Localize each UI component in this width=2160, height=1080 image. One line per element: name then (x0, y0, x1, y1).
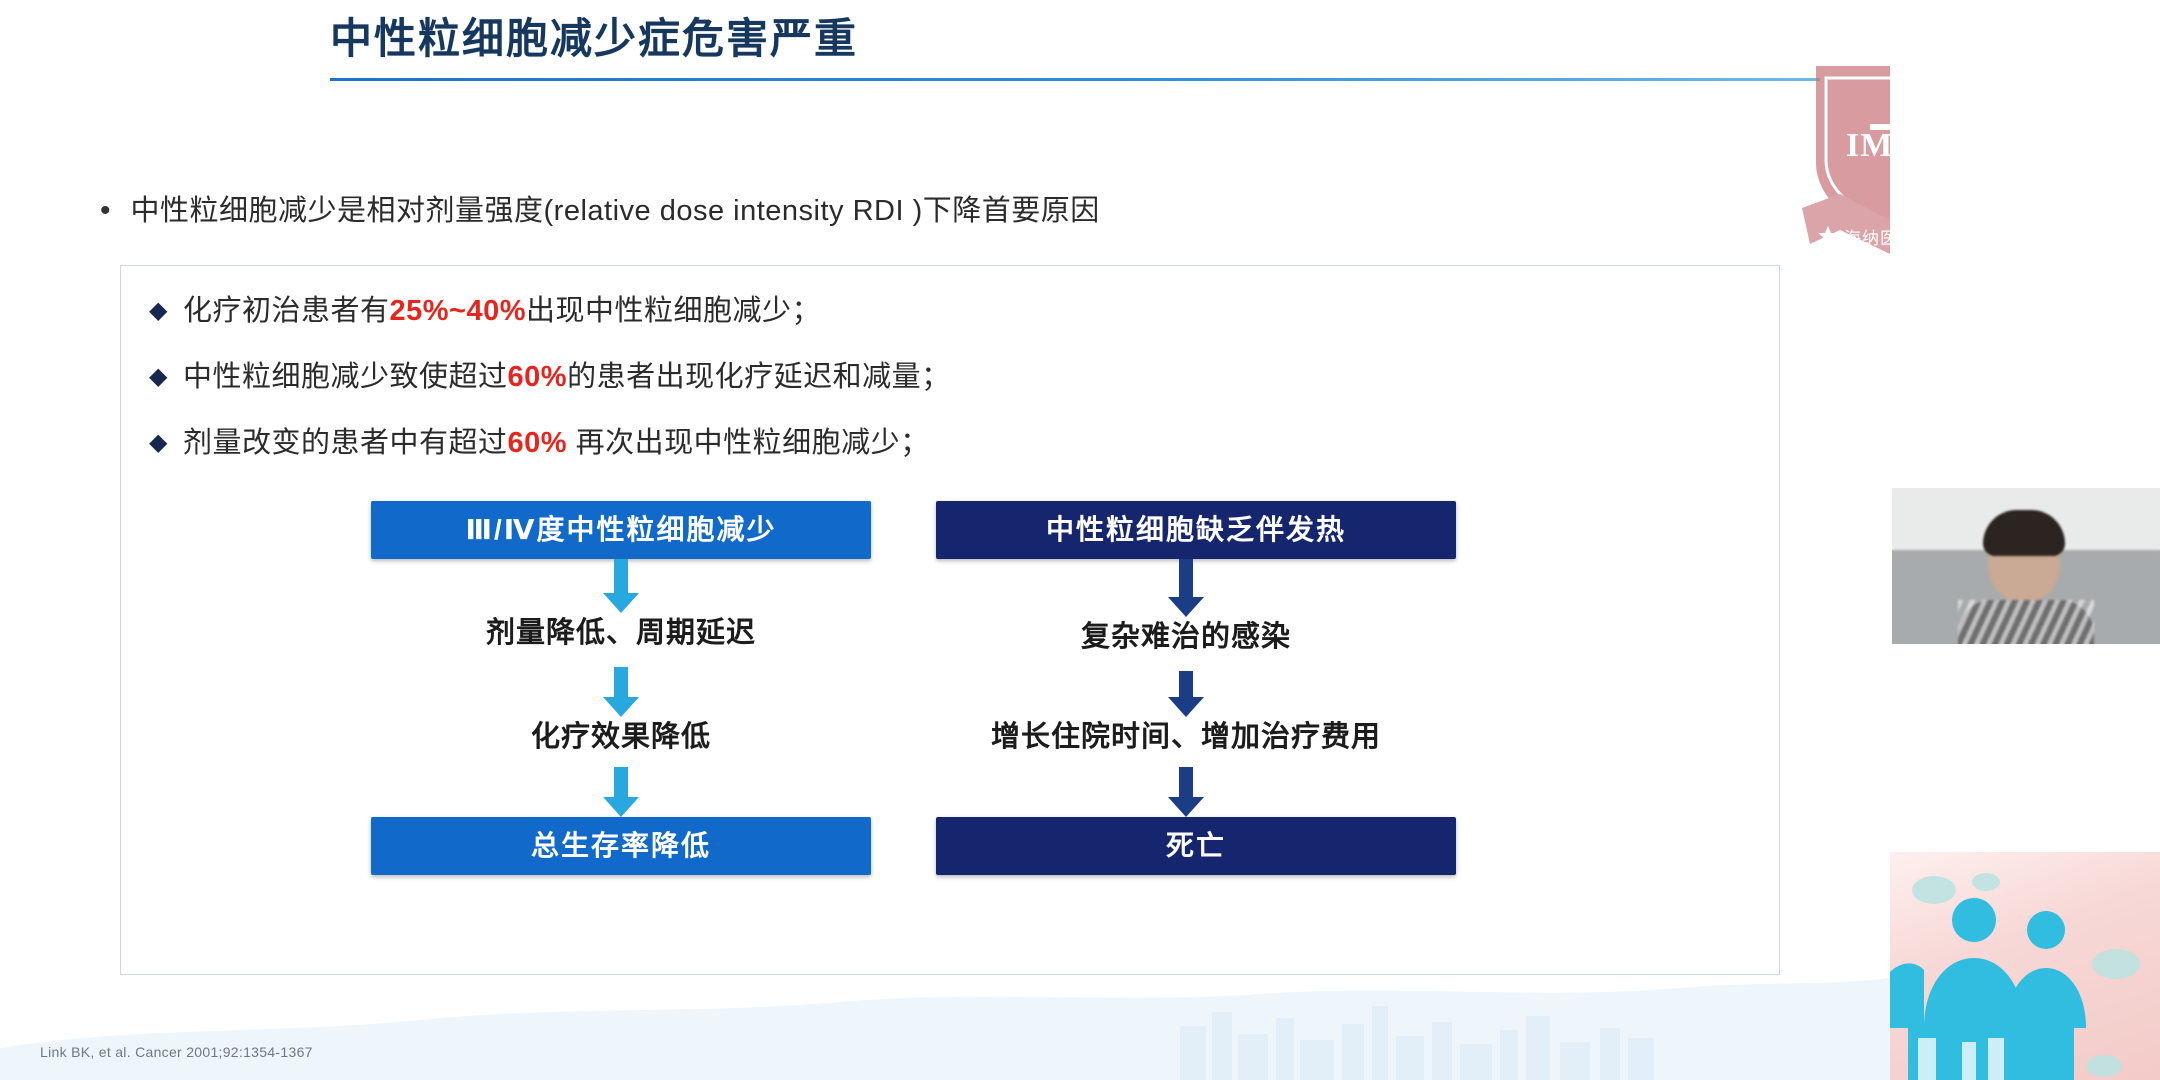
list-item: ◆ 中性粒细胞减少致使超过60%的患者出现化疗延迟和减量； (149, 357, 1729, 397)
text-post: 再次出现中性粒细胞减少； (567, 427, 930, 459)
flow-column-left: Ⅲ/Ⅳ度中性粒细胞减少 剂量降低、周期延迟 化疗效果降低 (371, 501, 871, 875)
stat-highlight: 60% (508, 427, 568, 459)
diamond-bullet-icon: ◆ (149, 423, 183, 463)
svg-text:IMD: IMD (1846, 127, 1890, 164)
arrow-down-icon (936, 671, 1436, 717)
page-title: 中性粒细胞减少症危害严重 (330, 14, 1830, 64)
content-panel: ◆ 化疗初治患者有25%~40%出现中性粒细胞减少； ◆ 中性粒细胞减少致使超过… (120, 265, 1780, 975)
text-pre: 中性粒细胞减少致使超过 (183, 361, 508, 393)
stat-highlight: 25%~40% (390, 295, 527, 327)
title-underline (330, 78, 1820, 81)
flow-diagram: Ⅲ/Ⅳ度中性粒细胞减少 剂量降低、周期延迟 化疗效果降低 (371, 501, 1501, 941)
list-item-text: 中性粒细胞减少致使超过60%的患者出现化疗延迟和减量； (183, 357, 951, 397)
list-item: ◆ 剂量改变的患者中有超过60% 再次出现中性粒细胞减少； (149, 423, 1729, 463)
rail-middle-blank (1890, 644, 2160, 852)
title-block: 中性粒细胞减少症危害严重 (330, 14, 1830, 81)
lead-bullet: • 中性粒细胞减少是相对剂量强度(relative dose intensity… (100, 192, 1600, 230)
text-post: 的患者出现化疗延迟和减量； (567, 361, 951, 393)
bullet-dot-icon: • (100, 194, 111, 228)
webcam-blur-overlay (1892, 488, 2160, 644)
text-pre: 化疗初治患者有 (183, 295, 390, 327)
presentation-slide: 中性粒细胞减少症危害严重 • 中性粒细胞减少是相对剂量强度(relative d… (0, 0, 1890, 1080)
flow-tail-box-left: 总生存率降低 (371, 817, 871, 875)
arrow-down-icon (936, 559, 1436, 617)
flow-head-box-right: 中性粒细胞缺乏伴发热 (936, 501, 1456, 559)
list-item-text: 剂量改变的患者中有超过60% 再次出现中性粒细胞减少； (183, 423, 930, 463)
text-pre: 剂量改变的患者中有超过 (183, 427, 508, 459)
flow-column-right: 中性粒细胞缺乏伴发热 复杂难治的感染 增长住院时间、增加治疗费用 (936, 501, 1436, 875)
arrow-down-icon (371, 767, 871, 817)
flow-step-left-1: 剂量降低、周期延迟 (371, 613, 871, 653)
imd-logo: IMD 海纳医学 (1800, 58, 1890, 258)
decorative-illustration (1890, 852, 2160, 1080)
webcam-video-thumbnail[interactable] (1892, 488, 2160, 644)
flow-head-box-left: Ⅲ/Ⅳ度中性粒细胞减少 (371, 501, 871, 559)
list-item-text: 化疗初治患者有25%~40%出现中性粒细胞减少； (183, 291, 821, 331)
lead-bullet-text: 中性粒细胞减少是相对剂量强度(relative dose intensity R… (131, 192, 1100, 230)
diamond-list: ◆ 化疗初治患者有25%~40%出现中性粒细胞减少； ◆ 中性粒细胞减少致使超过… (149, 291, 1729, 489)
diamond-bullet-icon: ◆ (149, 357, 183, 397)
flow-tail-box-right: 死亡 (936, 817, 1456, 875)
arrow-down-icon (371, 667, 871, 717)
arrow-down-icon (371, 559, 871, 613)
rail-top-blank (1890, 0, 2160, 480)
stat-highlight: 60% (508, 361, 568, 393)
diamond-bullet-icon: ◆ (149, 291, 183, 331)
citation-text: Link BK, et al. Cancer 2001;92:1354-1367 (40, 1044, 313, 1060)
arrow-down-icon (936, 767, 1436, 817)
svg-text:海纳医学: 海纳医学 (1844, 229, 1890, 248)
flow-step-right-2: 增长住院时间、增加治疗费用 (936, 717, 1436, 757)
right-rail (1890, 0, 2160, 1080)
list-item: ◆ 化疗初治患者有25%~40%出现中性粒细胞减少； (149, 291, 1729, 331)
flow-step-right-1: 复杂难治的感染 (936, 617, 1436, 657)
text-post: 出现中性粒细胞减少； (526, 295, 821, 327)
flow-step-left-2: 化疗效果降低 (371, 717, 871, 757)
